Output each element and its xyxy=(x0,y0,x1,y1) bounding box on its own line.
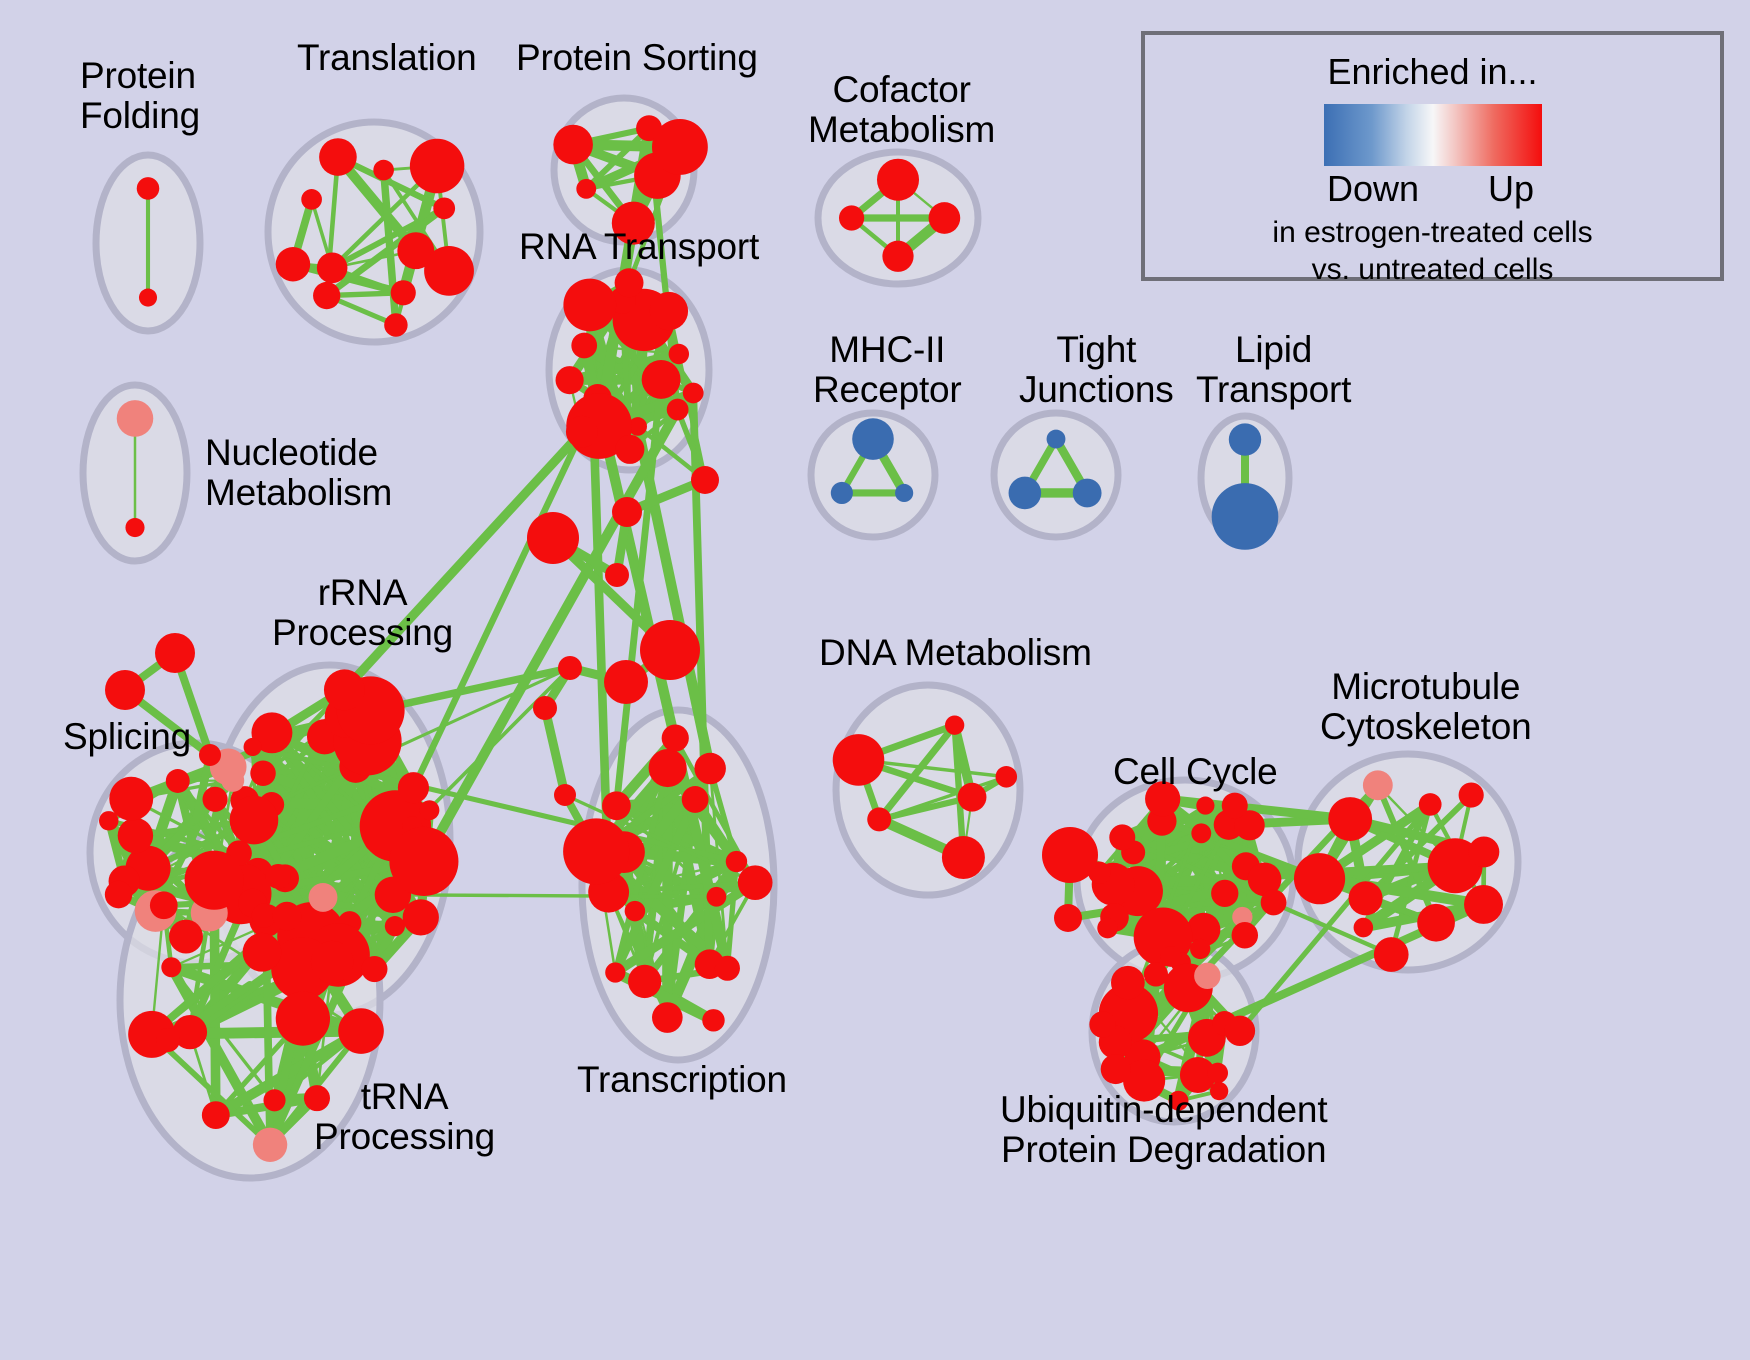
network-node[interactable] xyxy=(1191,823,1211,843)
network-node[interactable] xyxy=(118,818,153,853)
network-node[interactable] xyxy=(424,246,474,296)
network-node[interactable] xyxy=(137,177,160,200)
network-node[interactable] xyxy=(199,744,221,766)
network-node[interactable] xyxy=(605,563,629,587)
network-node[interactable] xyxy=(1042,827,1098,883)
network-node[interactable] xyxy=(640,620,700,680)
network-node[interactable] xyxy=(253,1128,287,1162)
network-node[interactable] xyxy=(1212,483,1279,550)
legend-low-label: Down xyxy=(1327,168,1419,210)
network-node[interactable] xyxy=(707,887,727,907)
network-node[interactable] xyxy=(945,716,964,735)
inter-cluster-edge xyxy=(393,895,717,897)
network-node[interactable] xyxy=(244,738,262,756)
network-node[interactable] xyxy=(1160,946,1181,967)
network-node[interactable] xyxy=(1349,881,1383,915)
network-node[interactable] xyxy=(533,696,557,720)
legend-high-label: Up xyxy=(1488,168,1534,210)
network-node[interactable] xyxy=(1459,782,1484,807)
network-node[interactable] xyxy=(105,881,133,909)
network-node[interactable] xyxy=(1047,430,1066,449)
cluster-label-nucleotide-metabolism: NucleotideMetabolism xyxy=(205,433,392,513)
network-node[interactable] xyxy=(1354,918,1374,938)
network-node[interactable] xyxy=(553,125,593,165)
network-node[interactable] xyxy=(276,991,330,1045)
network-node[interactable] xyxy=(867,807,891,831)
network-node[interactable] xyxy=(1190,939,1210,959)
network-node[interactable] xyxy=(319,138,357,176)
cluster-label-protein-sorting: Protein Sorting xyxy=(516,38,758,78)
network-node[interactable] xyxy=(317,253,348,284)
network-node[interactable] xyxy=(338,1008,384,1054)
cluster-label-transcription: Transcription xyxy=(577,1060,787,1100)
network-node[interactable] xyxy=(605,962,625,982)
network-node[interactable] xyxy=(1232,922,1258,948)
network-node[interactable] xyxy=(385,916,405,936)
network-figure: ProteinFolding Translation Protein Sorti… xyxy=(0,0,1750,1360)
network-node[interactable] xyxy=(99,811,118,830)
network-node[interactable] xyxy=(1111,966,1145,1000)
network-node[interactable] xyxy=(576,179,596,199)
network-node[interactable] xyxy=(852,418,894,460)
network-node[interactable] xyxy=(1196,797,1214,815)
network-node[interactable] xyxy=(702,1009,724,1031)
network-node[interactable] xyxy=(625,901,646,922)
network-node[interactable] xyxy=(1089,1011,1116,1038)
cluster-label-protein-folding: ProteinFolding xyxy=(80,56,200,136)
network-node[interactable] xyxy=(831,482,853,504)
network-node[interactable] xyxy=(266,864,291,889)
cluster-label-cofactor-metabolism: CofactorMetabolism xyxy=(808,70,995,150)
network-node[interactable] xyxy=(169,920,203,954)
network-node[interactable] xyxy=(273,902,302,931)
network-node[interactable] xyxy=(276,247,310,281)
network-node[interactable] xyxy=(243,933,282,972)
network-node[interactable] xyxy=(958,783,987,812)
network-node[interactable] xyxy=(1294,853,1345,904)
network-node[interactable] xyxy=(139,289,157,307)
network-node[interactable] xyxy=(166,769,190,793)
network-node[interactable] xyxy=(156,1028,180,1052)
network-node[interactable] xyxy=(324,669,365,710)
network-node[interactable] xyxy=(715,956,740,981)
cluster-label-trna-processing: tRNAProcessing xyxy=(314,1077,495,1157)
network-node[interactable] xyxy=(373,160,394,181)
network-node[interactable] xyxy=(1144,962,1168,986)
network-node[interactable] xyxy=(554,784,576,806)
network-node[interactable] xyxy=(839,205,864,230)
network-node[interactable] xyxy=(1229,423,1261,455)
network-node[interactable] xyxy=(252,904,276,928)
network-node[interactable] xyxy=(615,268,644,297)
network-node[interactable] xyxy=(1261,890,1287,916)
network-node[interactable] xyxy=(105,670,145,710)
network-node[interactable] xyxy=(566,416,598,448)
network-node[interactable] xyxy=(1073,479,1102,508)
network-node[interactable] xyxy=(263,1089,285,1111)
network-node[interactable] xyxy=(1328,797,1372,841)
legend-color-bar xyxy=(1324,104,1542,166)
network-node[interactable] xyxy=(1464,885,1503,924)
cluster-label-rna-transport: RNA Transport xyxy=(519,227,759,267)
cluster-ellipse-dna-metabolism xyxy=(836,685,1020,895)
network-node[interactable] xyxy=(571,333,597,359)
network-node[interactable] xyxy=(410,139,465,194)
network-node[interactable] xyxy=(882,241,913,272)
network-node[interactable] xyxy=(694,753,726,785)
cluster-label-rrna-processing: rRNAProcessing xyxy=(272,573,453,653)
network-node[interactable] xyxy=(929,202,961,234)
network-node[interactable] xyxy=(301,189,322,210)
network-node[interactable] xyxy=(311,941,353,983)
network-node[interactable] xyxy=(877,159,919,201)
legend-subtitle: in estrogen-treated cells vs. untreated … xyxy=(1145,215,1720,288)
network-node[interactable] xyxy=(109,777,153,821)
network-node[interactable] xyxy=(1417,904,1455,942)
network-node[interactable] xyxy=(604,660,648,704)
network-node[interactable] xyxy=(1374,937,1409,972)
network-node[interactable] xyxy=(230,796,279,845)
network-node[interactable] xyxy=(1363,770,1393,800)
cluster-label-tight-junctions: TightJunctions xyxy=(1019,330,1174,410)
network-node[interactable] xyxy=(384,313,407,336)
network-node[interactable] xyxy=(313,282,340,309)
cluster-label-translation: Translation xyxy=(297,38,476,78)
network-node[interactable] xyxy=(403,899,439,935)
network-node[interactable] xyxy=(612,497,642,527)
network-node[interactable] xyxy=(667,399,689,421)
network-node[interactable] xyxy=(1009,477,1042,510)
network-node[interactable] xyxy=(895,484,913,502)
network-node[interactable] xyxy=(726,851,747,872)
network-node[interactable] xyxy=(563,279,616,332)
network-node[interactable] xyxy=(563,818,629,884)
network-node[interactable] xyxy=(1207,1063,1228,1084)
network-node[interactable] xyxy=(683,383,704,404)
network-node[interactable] xyxy=(996,766,1018,788)
network-node[interactable] xyxy=(1054,904,1082,932)
network-node[interactable] xyxy=(117,400,154,437)
network-node[interactable] xyxy=(361,956,387,982)
network-node[interactable] xyxy=(250,761,275,786)
legend-subtitle-line2: vs. untreated cells xyxy=(1145,252,1720,289)
network-node[interactable] xyxy=(642,360,681,399)
network-node[interactable] xyxy=(155,633,195,673)
network-node[interactable] xyxy=(556,366,584,394)
cluster-label-cell-cycle: Cell Cycle xyxy=(1113,752,1278,792)
cluster-label-microtubule: MicrotubuleCytoskeleton xyxy=(1320,667,1532,747)
network-node[interactable] xyxy=(558,656,582,680)
legend-title: Enriched in... xyxy=(1145,51,1720,93)
network-node[interactable] xyxy=(161,957,181,977)
network-node[interactable] xyxy=(389,827,458,896)
network-node[interactable] xyxy=(1101,1054,1131,1084)
cluster-label-dna-metabolism: DNA Metabolism xyxy=(819,633,1092,673)
network-node[interactable] xyxy=(662,725,689,752)
legend-box: Enriched in... Down Up in estrogen-treat… xyxy=(1141,31,1724,281)
network-node[interactable] xyxy=(202,1101,230,1129)
spine-edge xyxy=(545,708,565,795)
network-node[interactable] xyxy=(1194,963,1220,989)
network-node[interactable] xyxy=(1222,793,1248,819)
network-node[interactable] xyxy=(433,197,455,219)
network-node[interactable] xyxy=(527,512,579,564)
cluster-label-lipid-transport: LipidTransport xyxy=(1196,330,1351,410)
network-node[interactable] xyxy=(602,791,631,820)
network-node[interactable] xyxy=(309,883,338,912)
network-node[interactable] xyxy=(398,772,429,803)
network-node[interactable] xyxy=(691,466,719,494)
legend-subtitle-line1: in estrogen-treated cells xyxy=(1145,215,1720,252)
network-node[interactable] xyxy=(1225,1016,1255,1046)
network-node[interactable] xyxy=(650,292,688,330)
network-node[interactable] xyxy=(202,787,227,812)
network-node[interactable] xyxy=(1419,793,1442,816)
cluster-label-ubiquitin: Ubiquitin-dependentProtein Degradation xyxy=(1000,1090,1327,1170)
network-node[interactable] xyxy=(1468,836,1499,867)
network-node[interactable] xyxy=(649,749,687,787)
network-node[interactable] xyxy=(682,786,709,813)
network-node[interactable] xyxy=(652,119,708,175)
network-node[interactable] xyxy=(652,1002,683,1033)
cluster-label-splicing: Splicing xyxy=(63,717,191,757)
network-node[interactable] xyxy=(125,518,144,537)
cluster-label-mhc-ii-receptor: MHC-IIReceptor xyxy=(813,330,962,410)
network-node[interactable] xyxy=(628,965,661,998)
network-node[interactable] xyxy=(833,734,885,786)
network-node[interactable] xyxy=(738,865,773,900)
network-node[interactable] xyxy=(391,280,416,305)
network-node[interactable] xyxy=(942,836,985,879)
network-node[interactable] xyxy=(420,800,440,820)
network-node[interactable] xyxy=(1211,880,1238,907)
network-node[interactable] xyxy=(1097,918,1118,939)
network-node[interactable] xyxy=(150,891,178,919)
network-node[interactable] xyxy=(669,344,689,364)
network-node[interactable] xyxy=(1109,824,1135,850)
network-node[interactable] xyxy=(615,435,644,464)
network-node[interactable] xyxy=(185,851,244,910)
